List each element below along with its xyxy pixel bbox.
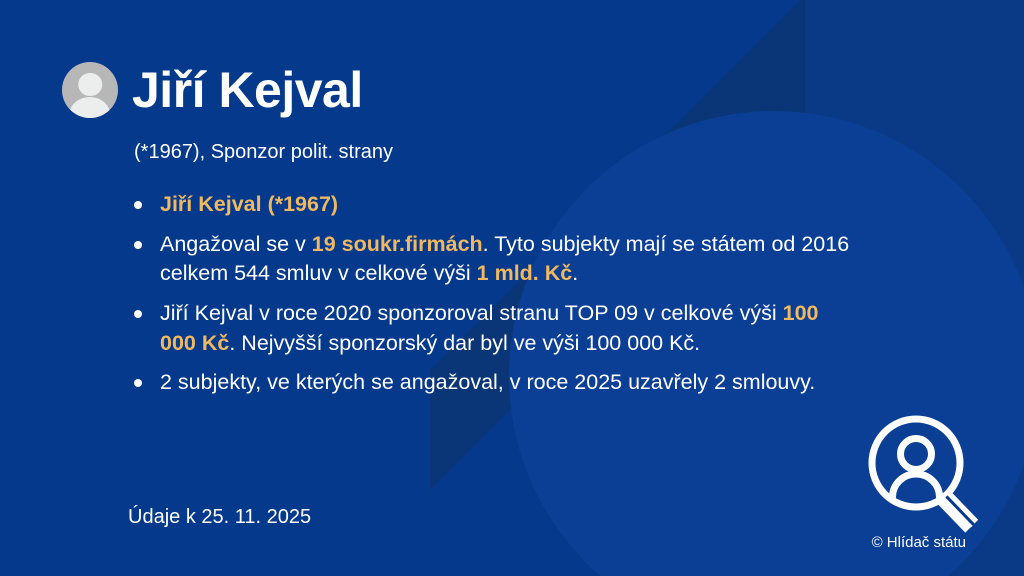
fact-accent-text: 19 soukr.firmách [312, 232, 483, 256]
fact-text: . Nejvyšší sponzorský dar byl ve výši 10… [229, 331, 700, 355]
slide-canvas: Jiří Kejval (*1967), Sponzor polit. stra… [0, 0, 1024, 576]
page-title: Jiří Kejval [132, 65, 363, 115]
fact-text: Angažoval se v [160, 232, 312, 256]
fact-item: Jiří Kejval (*1967) [128, 190, 858, 220]
fact-text: Jiří Kejval v roce 2020 sponzoroval stra… [160, 301, 783, 325]
facts-list: Jiří Kejval (*1967)Angažoval se v 19 sou… [128, 190, 858, 408]
fact-item: Jiří Kejval v roce 2020 sponzoroval stra… [128, 299, 858, 358]
fact-item: Angažoval se v 19 soukr.firmách. Tyto su… [128, 230, 858, 289]
magnifier-person-logo-icon [862, 412, 984, 534]
fact-accent-text: 1 mld. Kč [477, 261, 573, 285]
person-header: Jiří Kejval [62, 62, 363, 118]
user-avatar-placeholder-icon [62, 62, 118, 118]
copyright-label: © Hlídač státu [872, 534, 966, 551]
fact-text: 2 subjekty, ve kterých se angažoval, v r… [160, 370, 815, 394]
avatar-head-shape [78, 73, 102, 97]
fact-accent-text: Jiří Kejval (*1967) [160, 192, 338, 216]
data-date-label: Údaje k 25. 11. 2025 [128, 506, 311, 529]
avatar-body-shape [69, 97, 110, 118]
fact-item: 2 subjekty, ve kterých se angažoval, v r… [128, 368, 858, 398]
person-subtitle: (*1967), Sponzor polit. strany [134, 140, 393, 164]
fact-text: . [572, 261, 578, 285]
